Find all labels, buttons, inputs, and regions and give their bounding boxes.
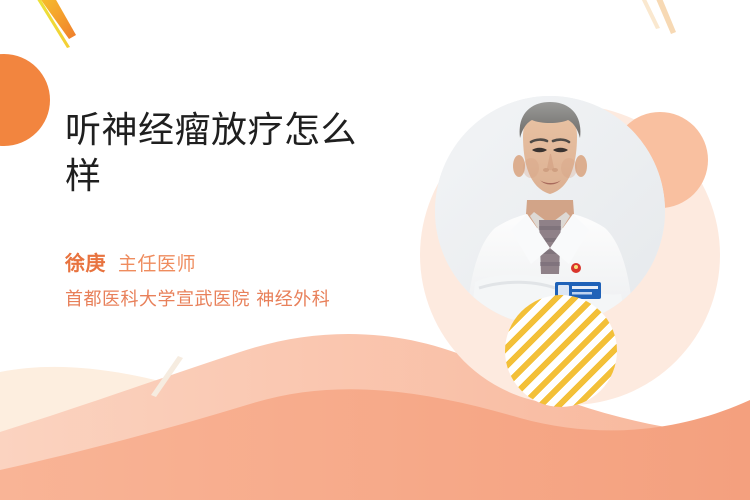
doctor-portrait-illustration — [435, 96, 665, 326]
doctor-affiliation: 首都医科大学宣武医院 神经外科 — [65, 286, 425, 314]
orange-streak-shape — [31, 0, 76, 39]
cream-streak-a-shape — [653, 0, 676, 34]
faint-cream-streak-shape — [151, 356, 183, 397]
doctor-credentials: 徐庚主任医师 首都医科大学宣武医院 神经外科 — [65, 248, 425, 314]
health-article-cover-card: 听神经瘤放疗怎么 样 徐庚主任医师 首都医科大学宣武医院 神经外科 — [0, 0, 750, 500]
doctor-title: 主任医师 — [118, 253, 196, 275]
yellow-streak-shape — [30, 0, 70, 48]
cream-wave-shape — [0, 367, 470, 500]
salmon-wave-shape — [0, 389, 750, 500]
yellow-stripe-circle — [505, 295, 617, 407]
doctor-portrait — [435, 96, 665, 326]
cream-streak-b-shape — [639, 0, 660, 29]
orange-circle-shape — [0, 54, 50, 146]
portrait-area — [420, 60, 750, 400]
text-content: 听神经瘤放疗怎么 样 徐庚主任医师 首都医科大学宣武医院 神经外科 — [65, 108, 425, 314]
doctor-name: 徐庚 — [65, 251, 106, 275]
page-title: 听神经瘤放疗怎么 样 — [65, 108, 425, 200]
